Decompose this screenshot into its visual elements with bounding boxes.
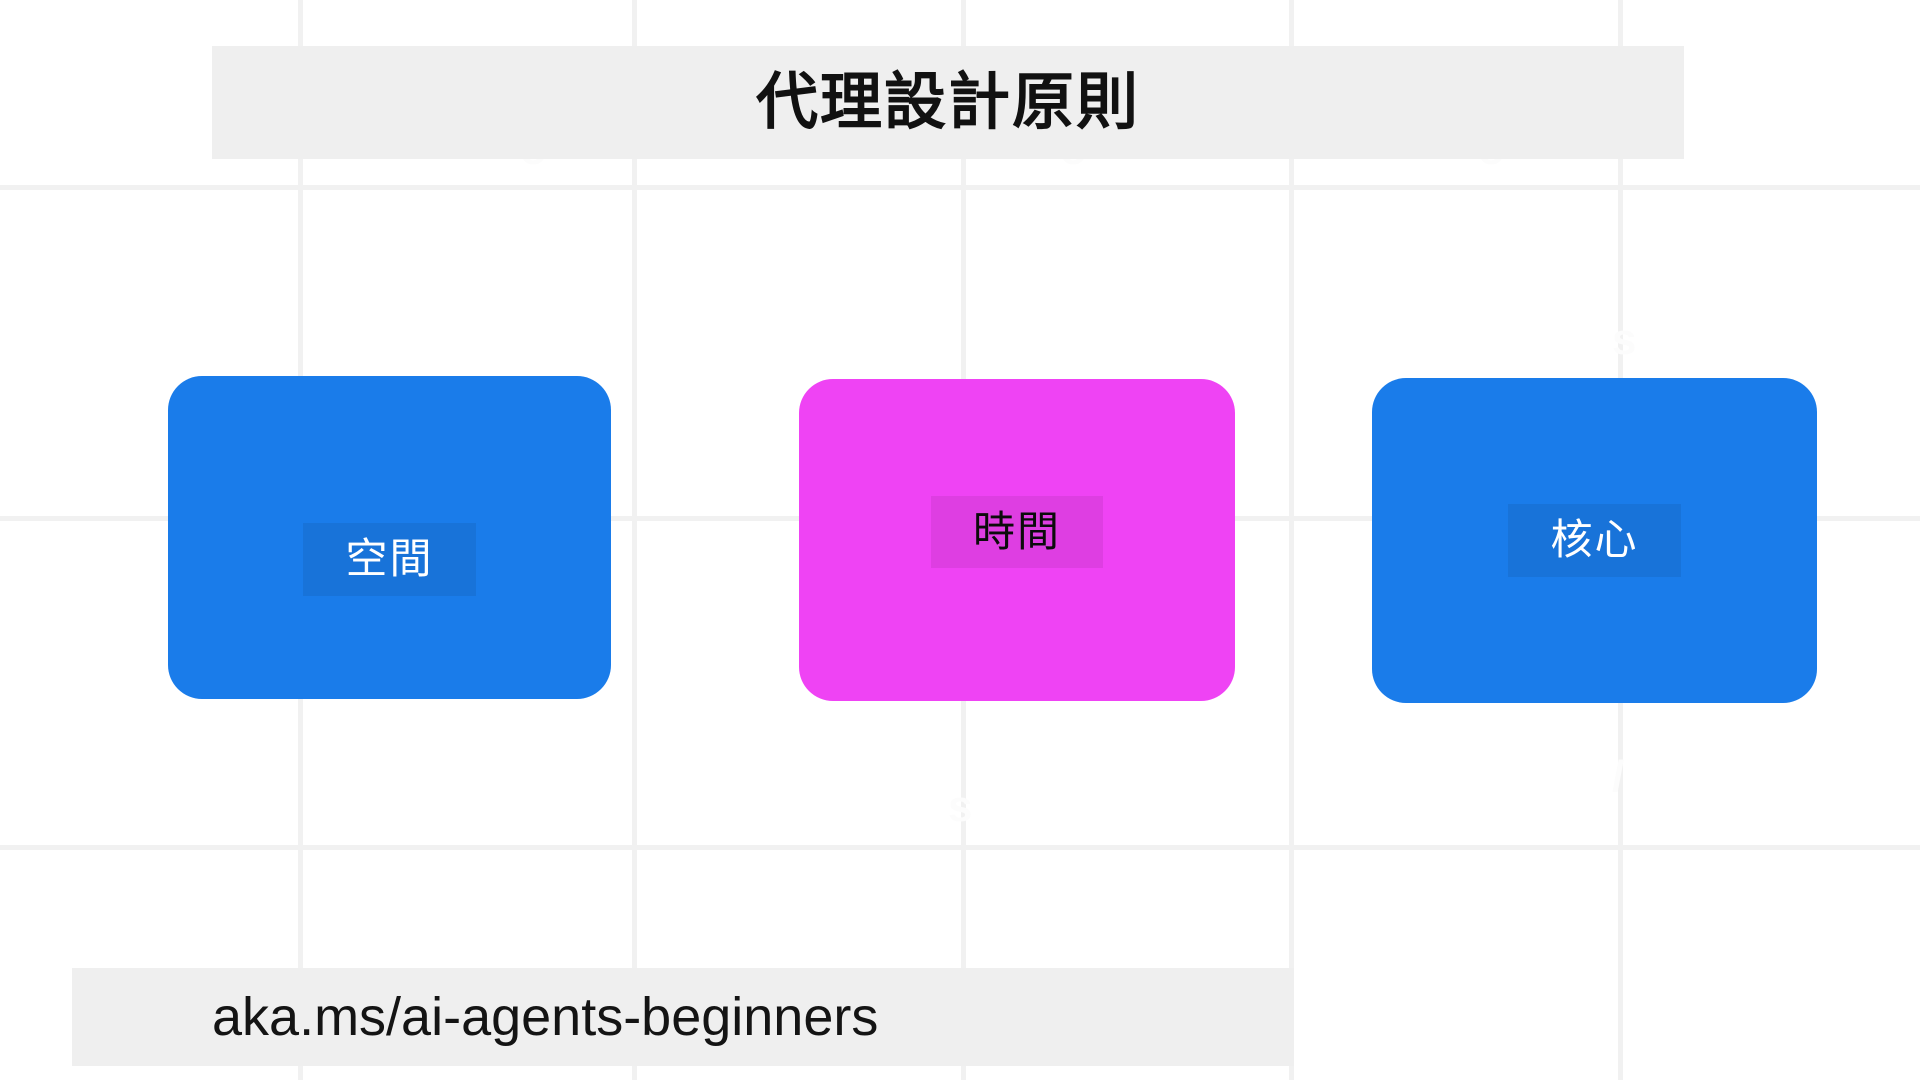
slide-canvas: s s / o o o 代理設計原則 空間 時間 核心 aka.ms/ai-ag… [0,0,1920,1080]
card-time-label: 時間 [931,496,1103,568]
grid-line-horizontal [0,845,1920,850]
watermark-glyph: s [1612,318,1636,362]
footer-banner: aka.ms/ai-agents-beginners [72,968,1294,1066]
watermark-glyph: / [1612,755,1624,799]
watermark-glyph: s [948,785,972,829]
card-space[interactable]: 空間 [168,376,611,699]
footer-url[interactable]: aka.ms/ai-agents-beginners [212,990,878,1044]
card-time[interactable]: 時間 [799,379,1235,701]
grid-line-horizontal [0,185,1920,190]
card-row: 空間 時間 核心 [0,0,1920,1080]
grid-line-vertical [632,0,637,1080]
title-banner: 代理設計原則 [212,46,1684,159]
card-core-label: 核心 [1508,504,1680,576]
card-core[interactable]: 核心 [1372,378,1817,703]
page-title: 代理設計原則 [756,72,1140,134]
grid-line-vertical [1289,0,1294,1080]
card-space-label: 空間 [303,523,475,595]
